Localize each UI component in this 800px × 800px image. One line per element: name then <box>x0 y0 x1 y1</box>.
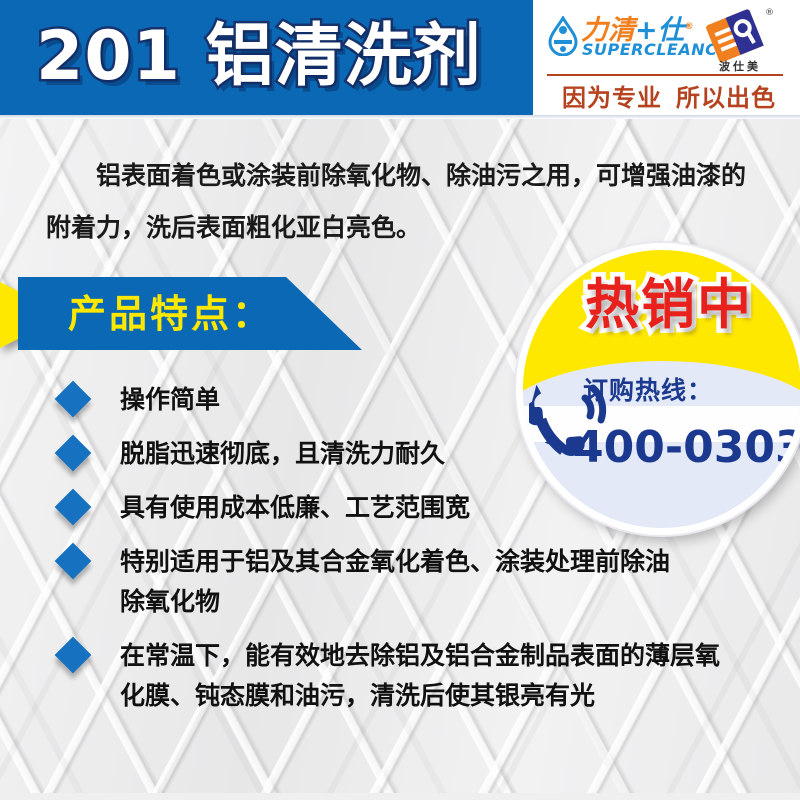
header: 201 铝清洗剂 力清+仕® SUPERCLEANCN <box>0 0 800 119</box>
water-drop-person-icon <box>545 16 581 56</box>
hotline-number: 400-0303-353 <box>573 422 800 474</box>
registered-mark: ® <box>685 22 694 32</box>
section-banner: 产品特点： <box>0 277 420 353</box>
feature-text: 在常温下，能有效地去除铝及铝合金制品表面的薄层氧 化膜、钝态膜和油污，清洗后使其… <box>120 636 772 716</box>
list-item: 特别适用于铝及其合金氧化着色、涂装处理前除油 除氧化物 <box>52 542 772 622</box>
promo-badge: 热销中 订购热线： 400-0303-353 <box>516 243 800 535</box>
tagline-right: 所以出色 <box>676 84 776 112</box>
header-divider <box>0 115 800 119</box>
blue-diamond-bullet-icon <box>55 381 92 418</box>
bottom-edge <box>0 793 800 800</box>
blue-diamond-bullet-icon <box>55 435 92 472</box>
brand-logo: 力清+仕® SUPERCLEANCN ® 波仕美 <box>545 8 793 112</box>
feature-text: 特别适用于铝及其合金氧化着色、涂装处理前除油 除氧化物 <box>120 542 772 622</box>
logo-sub-brand: 波仕美 <box>705 58 775 74</box>
logo-top-row: 力清+仕® SUPERCLEANCN ® 波仕美 <box>545 8 793 70</box>
logo-divider <box>547 74 783 76</box>
poster-canvas: 201 铝清洗剂 力清+仕® SUPERCLEANCN <box>0 0 800 800</box>
hot-sale-label: 热销中 <box>523 272 800 338</box>
blue-diamond-bullet-icon <box>55 637 92 674</box>
blue-diamond-bullet-icon <box>55 543 92 580</box>
registered-mark-secondary: ® <box>765 8 774 18</box>
product-description: 铝表面着色或涂装前除氧化物、除油污之用，可增强油漆的附着力，洗后表面粗化亚白亮色… <box>46 150 758 254</box>
page-title: 201 铝清洗剂 <box>36 8 482 106</box>
bsm-diamond-logo-icon <box>703 8 765 64</box>
section-title: 产品特点： <box>68 287 273 341</box>
blue-diamond-bullet-icon <box>55 489 92 526</box>
tagline-left: 因为专业 <box>562 84 662 112</box>
list-item: 在常温下，能有效地去除铝及铝合金制品表面的薄层氧 化膜、钝态膜和油污，清洗后使其… <box>52 636 772 716</box>
brand-tagline: 因为专业所以出色 <box>545 78 793 113</box>
